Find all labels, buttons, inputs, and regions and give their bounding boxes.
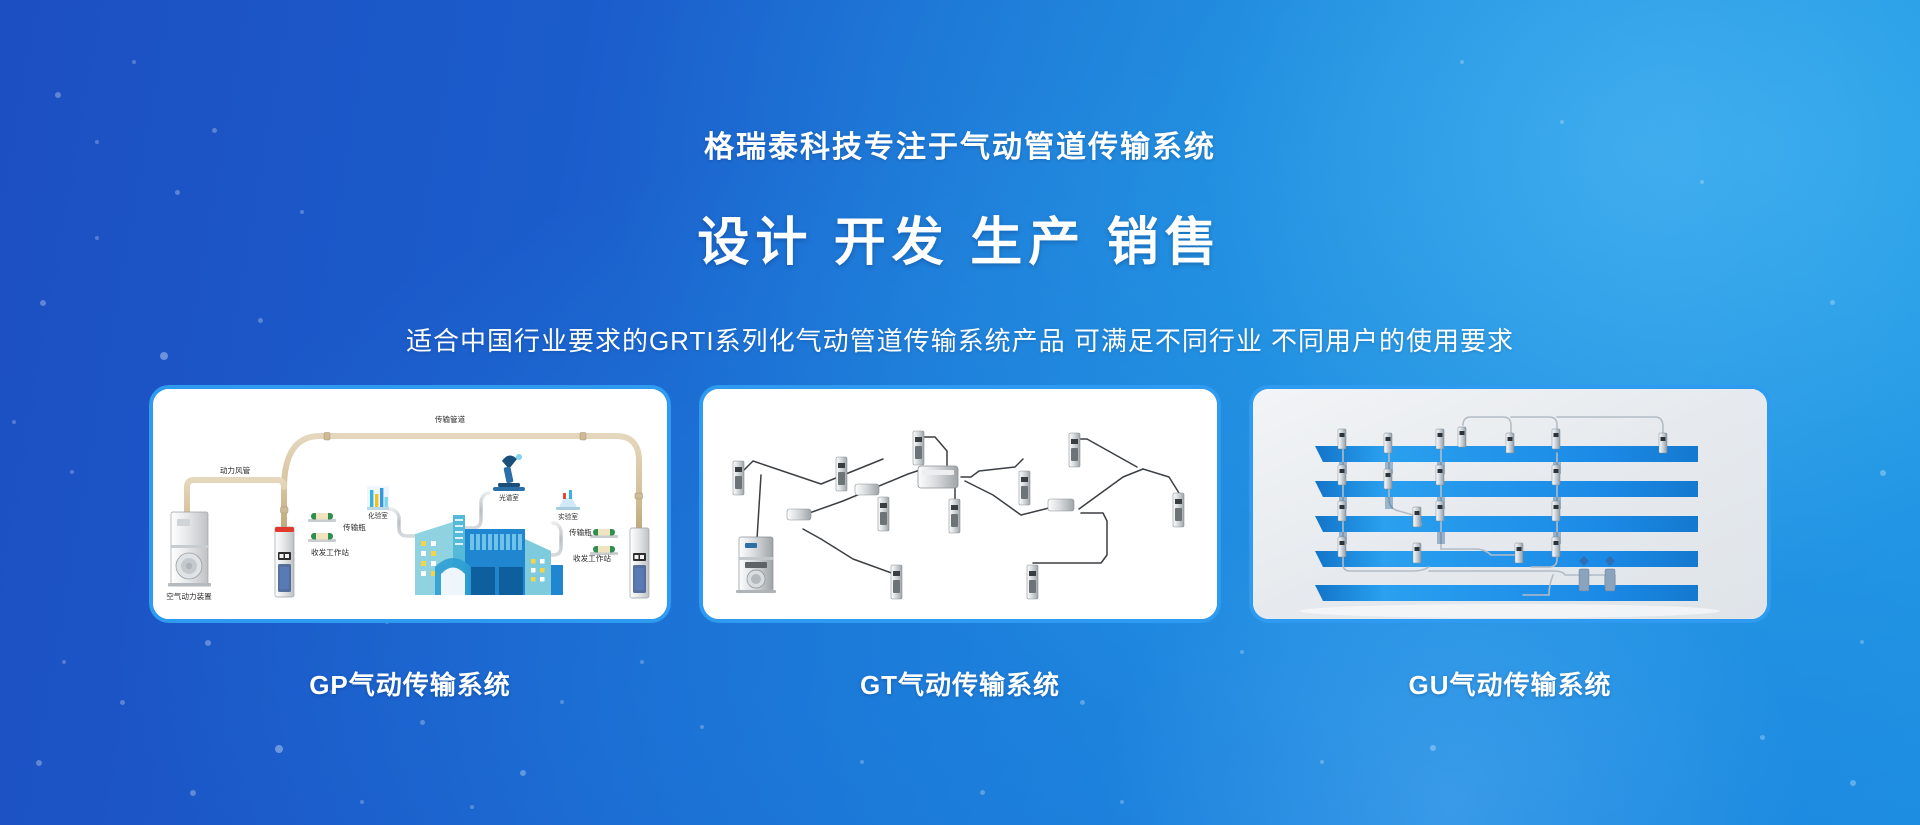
label-air-power-unit: 空气动力装置 bbox=[166, 591, 212, 601]
particle-dot bbox=[1320, 760, 1324, 764]
particle-dot bbox=[36, 760, 42, 766]
label-lab-experiment: 实验室 bbox=[558, 512, 578, 521]
gt-network-diagram bbox=[703, 389, 1217, 619]
product-card-gp-image[interactable]: 传输管道 动力风管 空气动力装置 bbox=[149, 385, 671, 623]
particle-dot bbox=[1430, 745, 1436, 751]
label-lab-spectro: 光谱室 bbox=[499, 493, 519, 502]
workstation-left bbox=[275, 527, 294, 597]
central-diverter bbox=[918, 466, 958, 488]
particle-dot bbox=[700, 725, 704, 729]
particle-dot bbox=[980, 790, 985, 795]
particle-dot bbox=[1120, 800, 1124, 804]
label-carrier-bottle-right: 传输瓶 bbox=[569, 527, 592, 537]
label-lab-chem: 化验室 bbox=[368, 511, 388, 520]
label-power-duct: 动力风管 bbox=[220, 465, 251, 475]
label-carrier-bottle-left: 传输瓶 bbox=[343, 522, 366, 532]
product-card-gt-image[interactable] bbox=[699, 385, 1221, 623]
label-workstation-left: 收发工作站 bbox=[311, 547, 349, 557]
workstation-right bbox=[630, 528, 649, 598]
lab-chem-icon bbox=[367, 486, 389, 510]
particle-dot bbox=[470, 805, 474, 809]
particle-dot bbox=[190, 790, 196, 796]
banner-text-block: 格瑞泰科技专注于气动管道传输系统 设计 开发 生产 销售 适合中国行业要求的GR… bbox=[0, 0, 1920, 358]
air-power-unit bbox=[168, 512, 211, 587]
blower-unit bbox=[736, 537, 776, 593]
particle-dot bbox=[1850, 780, 1856, 786]
particle-dot bbox=[420, 720, 425, 725]
product-card-row: 传输管道 动力风管 空气动力装置 bbox=[0, 385, 1920, 702]
product-card-gu[interactable]: GU气动传输系统 bbox=[1249, 385, 1771, 702]
banner-title: 设计 开发 生产 销售 bbox=[0, 200, 1920, 275]
particle-dot bbox=[360, 800, 364, 804]
product-card-gt-caption: GT气动传输系统 bbox=[699, 665, 1221, 702]
product-card-gp-caption: GP气动传输系统 bbox=[149, 665, 671, 702]
product-card-gp[interactable]: 传输管道 动力风管 空气动力装置 bbox=[149, 385, 671, 702]
particle-dot bbox=[275, 745, 283, 753]
promo-banner: 格瑞泰科技专注于气动管道传输系统 设计 开发 生产 销售 适合中国行业要求的GR… bbox=[0, 0, 1920, 825]
particle-dot bbox=[860, 760, 864, 764]
product-card-gu-caption: GU气动传输系统 bbox=[1249, 665, 1771, 702]
banner-kicker: 格瑞泰科技专注于气动管道传输系统 bbox=[0, 122, 1920, 166]
label-workstation-right: 收发工作站 bbox=[573, 553, 611, 563]
gp-system-diagram: 传输管道 动力风管 空气动力装置 bbox=[153, 389, 667, 619]
particle-dot bbox=[520, 770, 526, 776]
product-card-gt[interactable]: GT气动传输系统 bbox=[699, 385, 1221, 702]
particle-dot bbox=[1760, 735, 1765, 740]
banner-subtitle: 适合中国行业要求的GRTI系列化气动管道传输系统产品 可满足不同行业 不同用户的… bbox=[0, 321, 1920, 358]
product-card-gu-image[interactable] bbox=[1249, 385, 1771, 623]
label-pipeline: 传输管道 bbox=[435, 414, 466, 424]
gu-multifloor-diagram bbox=[1253, 389, 1767, 619]
